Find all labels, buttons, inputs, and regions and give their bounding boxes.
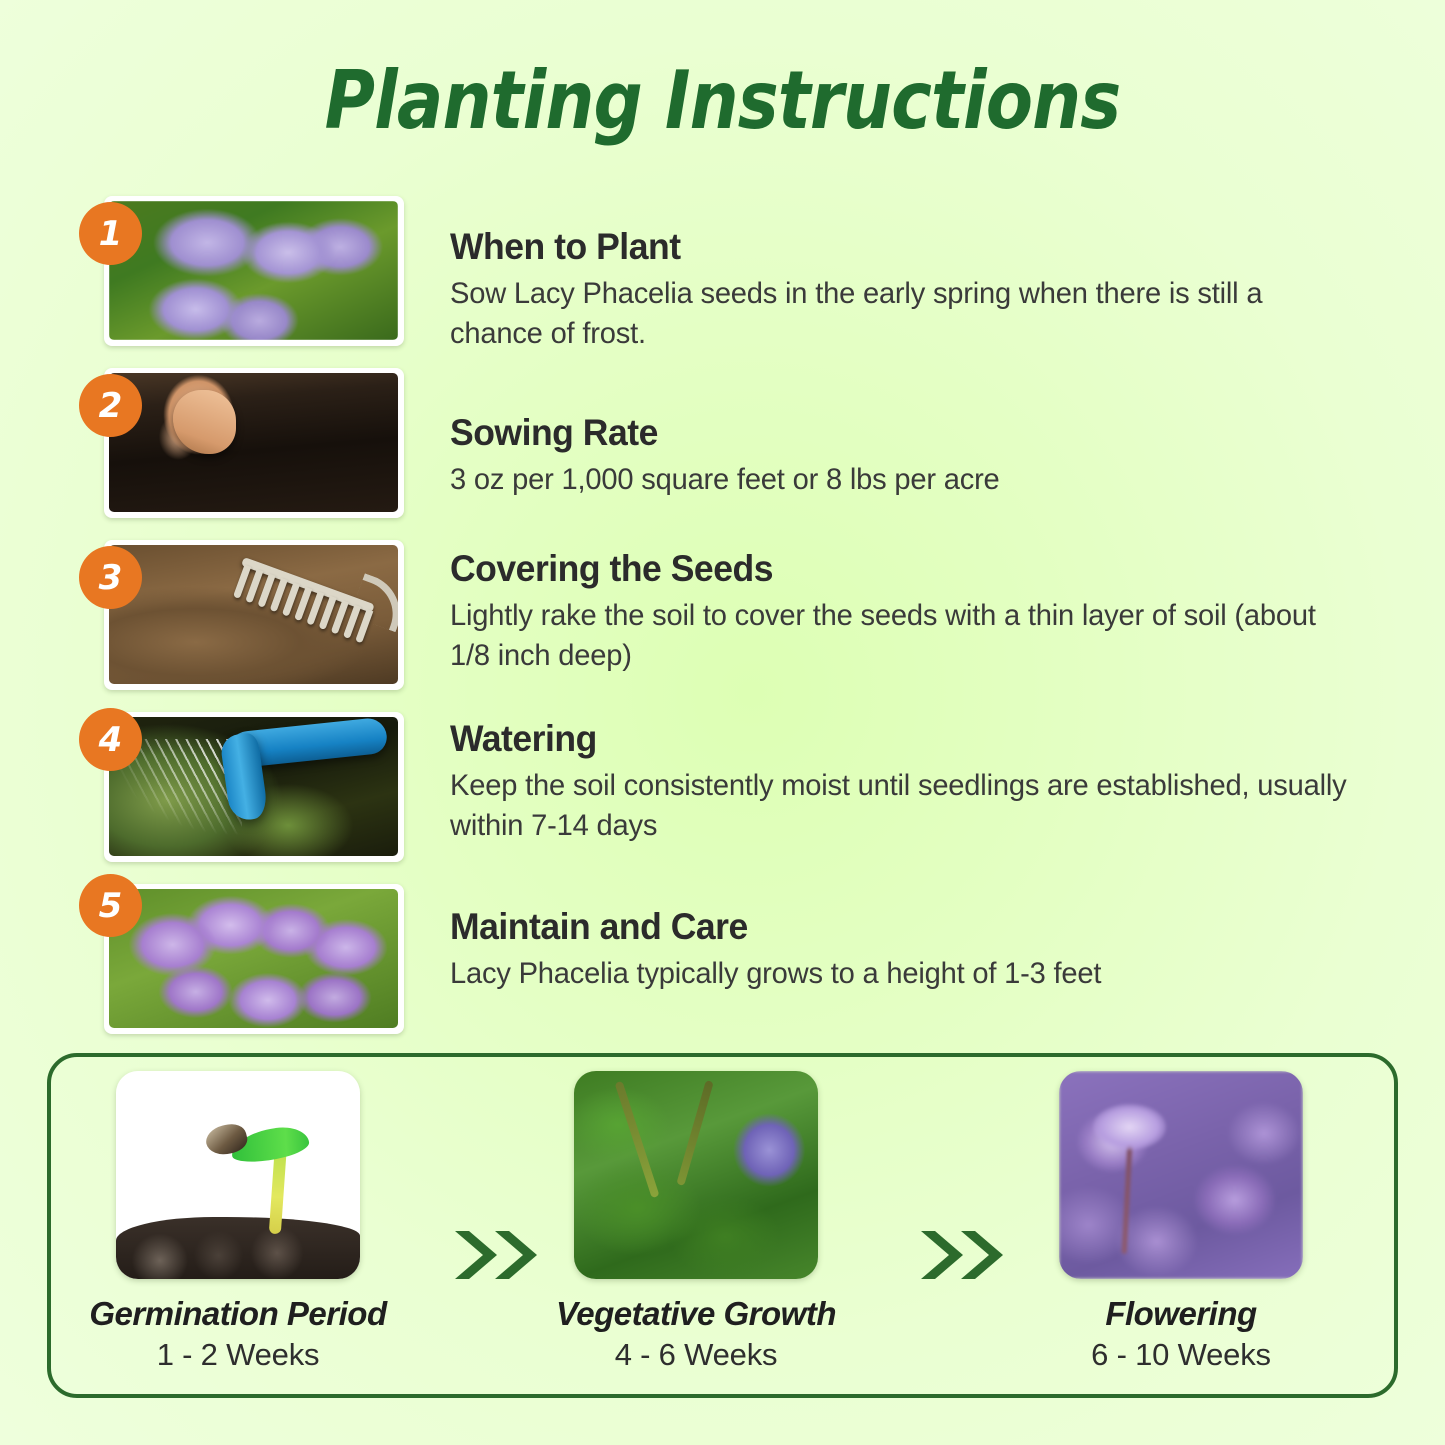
step-1-number-badge: 1	[79, 202, 142, 265]
watering-can-photo	[109, 717, 398, 856]
step-3-title: Covering the Seeds	[450, 548, 1352, 590]
step-5-photo-card	[104, 884, 404, 1034]
step-5-title: Maintain and Care	[450, 906, 1352, 948]
step-3-text: Covering the Seeds Lightly rake the soil…	[450, 548, 1390, 675]
rake-on-soil-photo	[109, 545, 398, 684]
timeline-stage-germination: Germination Period 1 - 2 Weeks	[73, 1071, 403, 1373]
step-5-number-badge: 5	[79, 874, 142, 937]
step-2-number-badge: 2	[79, 374, 142, 437]
rake-icon	[221, 545, 398, 678]
purple-flowering-field-photo	[1059, 1071, 1303, 1279]
page-title: Planting Instructions	[101, 54, 1344, 147]
timeline-stage-flowering: Flowering 6 - 10 Weeks	[1016, 1071, 1346, 1373]
step-1-photo-card	[104, 196, 404, 346]
stage-3-name: Flowering	[1016, 1295, 1346, 1333]
phacelia-closeup-photo	[109, 889, 398, 1028]
step-4-text: Watering Keep the soil consistently mois…	[450, 718, 1390, 845]
step-2-title: Sowing Rate	[450, 412, 1352, 454]
step-4-number-badge: 4	[79, 708, 142, 771]
stage-2-duration: 4 - 6 Weeks	[531, 1337, 861, 1373]
step-1-title: When to Plant	[450, 226, 1352, 268]
step-5-body: Lacy Phacelia typically grows to a heigh…	[450, 954, 1362, 994]
step-3-photo-card	[104, 540, 404, 690]
step-5-text: Maintain and Care Lacy Phacelia typicall…	[450, 906, 1390, 994]
stage-1-duration: 1 - 2 Weeks	[73, 1337, 403, 1373]
infographic-page: Planting Instructions 1 When to Plant So…	[0, 0, 1445, 1445]
step-4-photo-card	[104, 712, 404, 862]
seedling-sprout-photo	[116, 1071, 360, 1279]
step-3-number-badge: 3	[79, 546, 142, 609]
green-foliage-photo	[574, 1071, 818, 1279]
step-1-body: Sow Lacy Phacelia seeds in the early spr…	[450, 274, 1362, 353]
step-4-title: Watering	[450, 718, 1352, 760]
phacelia-flowers-photo	[109, 201, 398, 340]
stage-3-duration: 6 - 10 Weeks	[1016, 1337, 1346, 1373]
stage-1-name: Germination Period	[73, 1295, 403, 1333]
double-chevron-right-icon-2	[915, 1225, 1011, 1285]
step-2-text: Sowing Rate 3 oz per 1,000 square feet o…	[450, 412, 1390, 500]
step-3-body: Lightly rake the soil to cover the seeds…	[450, 596, 1362, 675]
step-4-body: Keep the soil consistently moist until s…	[450, 766, 1362, 845]
step-2-photo-card	[104, 368, 404, 518]
timeline-stage-vegetative: Vegetative Growth 4 - 6 Weeks	[531, 1071, 861, 1373]
growth-timeline-panel: Germination Period 1 - 2 Weeks Vegetativ…	[47, 1053, 1398, 1398]
step-2-body: 3 oz per 1,000 square feet or 8 lbs per …	[450, 460, 1362, 500]
stage-2-name: Vegetative Growth	[531, 1295, 861, 1333]
step-1-text: When to Plant Sow Lacy Phacelia seeds in…	[450, 226, 1390, 353]
hand-sowing-seeds-photo	[109, 373, 398, 512]
